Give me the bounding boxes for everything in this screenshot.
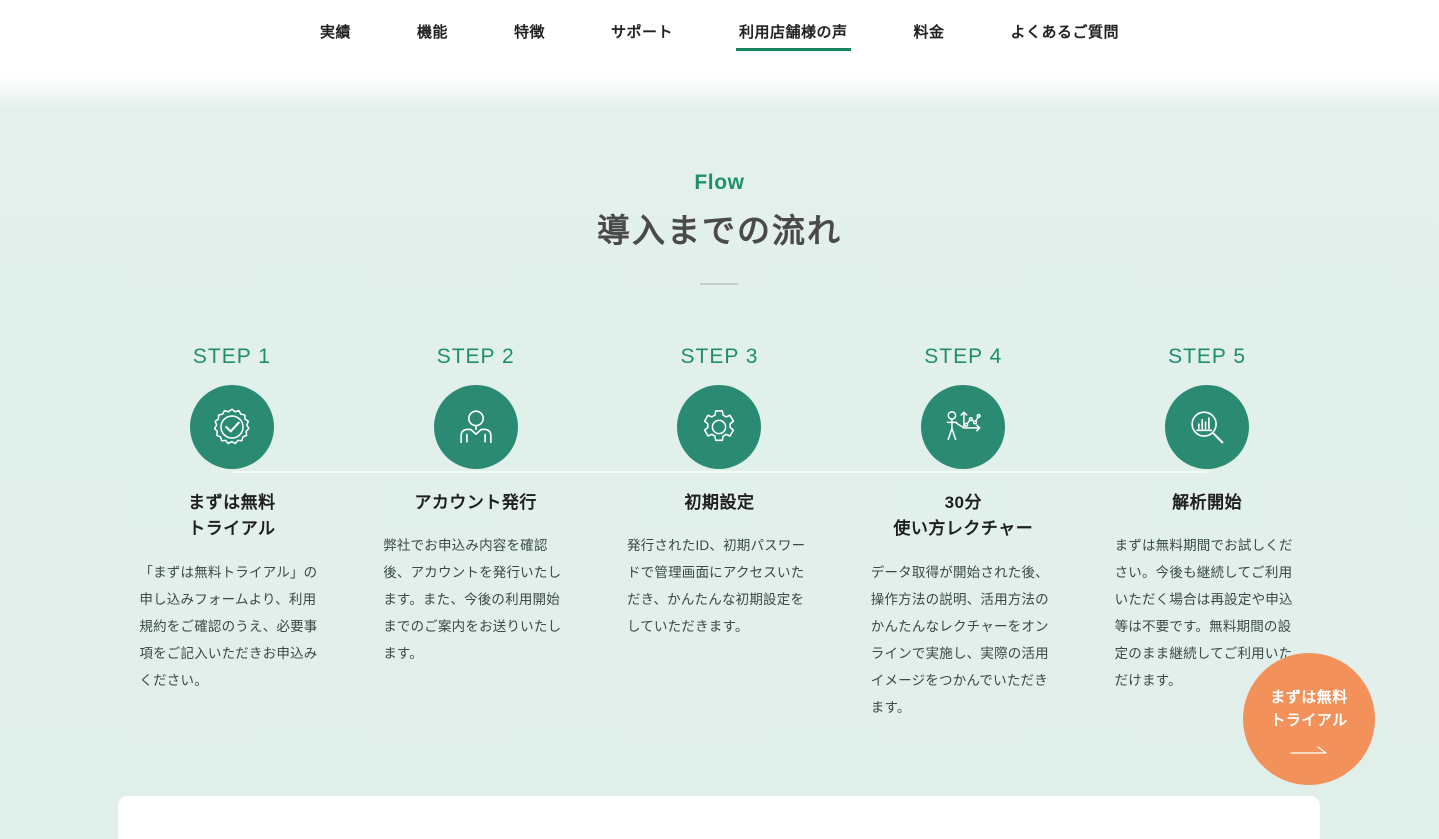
nav-item-support[interactable]: サポート xyxy=(611,25,673,51)
section-eyebrow: Flow xyxy=(0,171,1439,195)
nav-item-kinou[interactable]: 機能 xyxy=(417,25,448,51)
step-icon-wrap xyxy=(921,385,1005,469)
step-label: STEP 1 xyxy=(193,346,271,367)
step-label: STEP 2 xyxy=(437,346,515,367)
step-connector xyxy=(232,471,476,473)
magnifier-chart-icon xyxy=(1165,385,1249,469)
step-title: まずは無料 トライアル xyxy=(188,490,276,543)
gear-icon xyxy=(677,385,761,469)
presenter-chart-icon xyxy=(921,385,1005,469)
nav-item-label: よくあるご質問 xyxy=(1011,24,1120,41)
nav-item-label: 利用店舗様の声 xyxy=(739,24,848,41)
nav-item-faq[interactable]: よくあるご質問 xyxy=(1011,25,1120,51)
step-item: STEP 1 まずは無料 トライアル 「まずは無料トライアル」の申し込みフォーム… xyxy=(110,346,354,721)
step-title-line2: トライアル xyxy=(188,519,275,538)
nav-item-ryoukin[interactable]: 料金 xyxy=(914,25,945,51)
cta-label-line2: トライアル xyxy=(1270,709,1347,732)
page-title: 導入までの流れ xyxy=(0,204,1439,252)
step-title-line1: 解析開始 xyxy=(1172,493,1242,512)
site-header: 実績 機能 特徴 サポート 利用店舗様の声 料金 よくあるご質問 xyxy=(0,0,1439,76)
step-title-line1: 30分 xyxy=(945,493,982,512)
step-label: STEP 4 xyxy=(924,346,1002,367)
free-trial-cta-button[interactable]: まずは無料 トライアル xyxy=(1243,653,1375,785)
step-icon-wrap xyxy=(1165,385,1249,469)
step-connector xyxy=(476,471,720,473)
step-icon-wrap xyxy=(190,385,274,469)
step-title-line1: まずは無料 xyxy=(188,493,276,512)
main-navigation: 実績 機能 特徴 サポート 利用店舗様の声 料金 よくあるご質問 xyxy=(0,0,1439,76)
step-label: STEP 3 xyxy=(681,346,759,367)
step-description: データ取得が開始された後、操作方法の説明、活用方法のかんたんなレクチャーをオンラ… xyxy=(871,559,1056,721)
step-description: 弊社でお申込み内容を確認後、アカウントを発行いたします。また、今後の利用開始まで… xyxy=(383,532,568,667)
step-title-line2: 使い方レクチャー xyxy=(893,519,1033,538)
step-title: 初期設定 xyxy=(684,490,754,516)
nav-item-label: 特徴 xyxy=(514,24,545,41)
steps-list: STEP 1 まずは無料 トライアル 「まずは無料トライアル」の申し込みフォーム… xyxy=(110,346,1329,721)
step-title: 解析開始 xyxy=(1172,490,1242,516)
step-title-line1: アカウント発行 xyxy=(414,493,537,512)
step-description: 発行されたID、初期パスワードで管理画面にアクセスいただき、かんたんな初期設定を… xyxy=(627,532,812,640)
nav-item-jisseki[interactable]: 実績 xyxy=(320,25,351,51)
step-title: アカウント発行 xyxy=(414,490,537,516)
step-description: 「まずは無料トライアル」の申し込みフォームより、利用規約をご確認のうえ、必要事項… xyxy=(139,559,324,694)
section-divider xyxy=(700,283,738,285)
nav-item-label: 機能 xyxy=(417,24,448,41)
flow-section: Flow 導入までの流れ STEP 1 まずは無料 トライアル 「まずは無料 xyxy=(0,76,1439,839)
step-icon-wrap xyxy=(677,385,761,469)
nav-item-label: 料金 xyxy=(914,24,945,41)
nav-item-voices[interactable]: 利用店舗様の声 xyxy=(739,25,848,51)
step-title-line1: 初期設定 xyxy=(684,493,754,512)
bottom-content-card xyxy=(118,796,1320,839)
user-icon xyxy=(434,385,518,469)
step-item: STEP 2 アカウント発行 弊社でお申込み内容を確認後、アカウントを発行いたし… xyxy=(354,346,598,721)
nav-item-tokuchou[interactable]: 特徴 xyxy=(514,25,545,51)
step-connector xyxy=(963,471,1207,473)
step-connector xyxy=(719,471,963,473)
nav-item-label: サポート xyxy=(611,24,673,41)
step-label: STEP 5 xyxy=(1168,346,1246,367)
cta-label-line1: まずは無料 xyxy=(1270,686,1348,709)
arrow-right-icon xyxy=(1289,745,1329,755)
step-item: STEP 4 xyxy=(841,346,1085,721)
step-title: 30分 使い方レクチャー xyxy=(893,490,1033,543)
step-icon-wrap xyxy=(434,385,518,469)
badge-check-icon xyxy=(190,385,274,469)
step-item: STEP 3 初期設定 発行されたID、初期パスワードで管理画面にアクセスいただ… xyxy=(598,346,842,721)
nav-item-label: 実績 xyxy=(320,24,351,41)
